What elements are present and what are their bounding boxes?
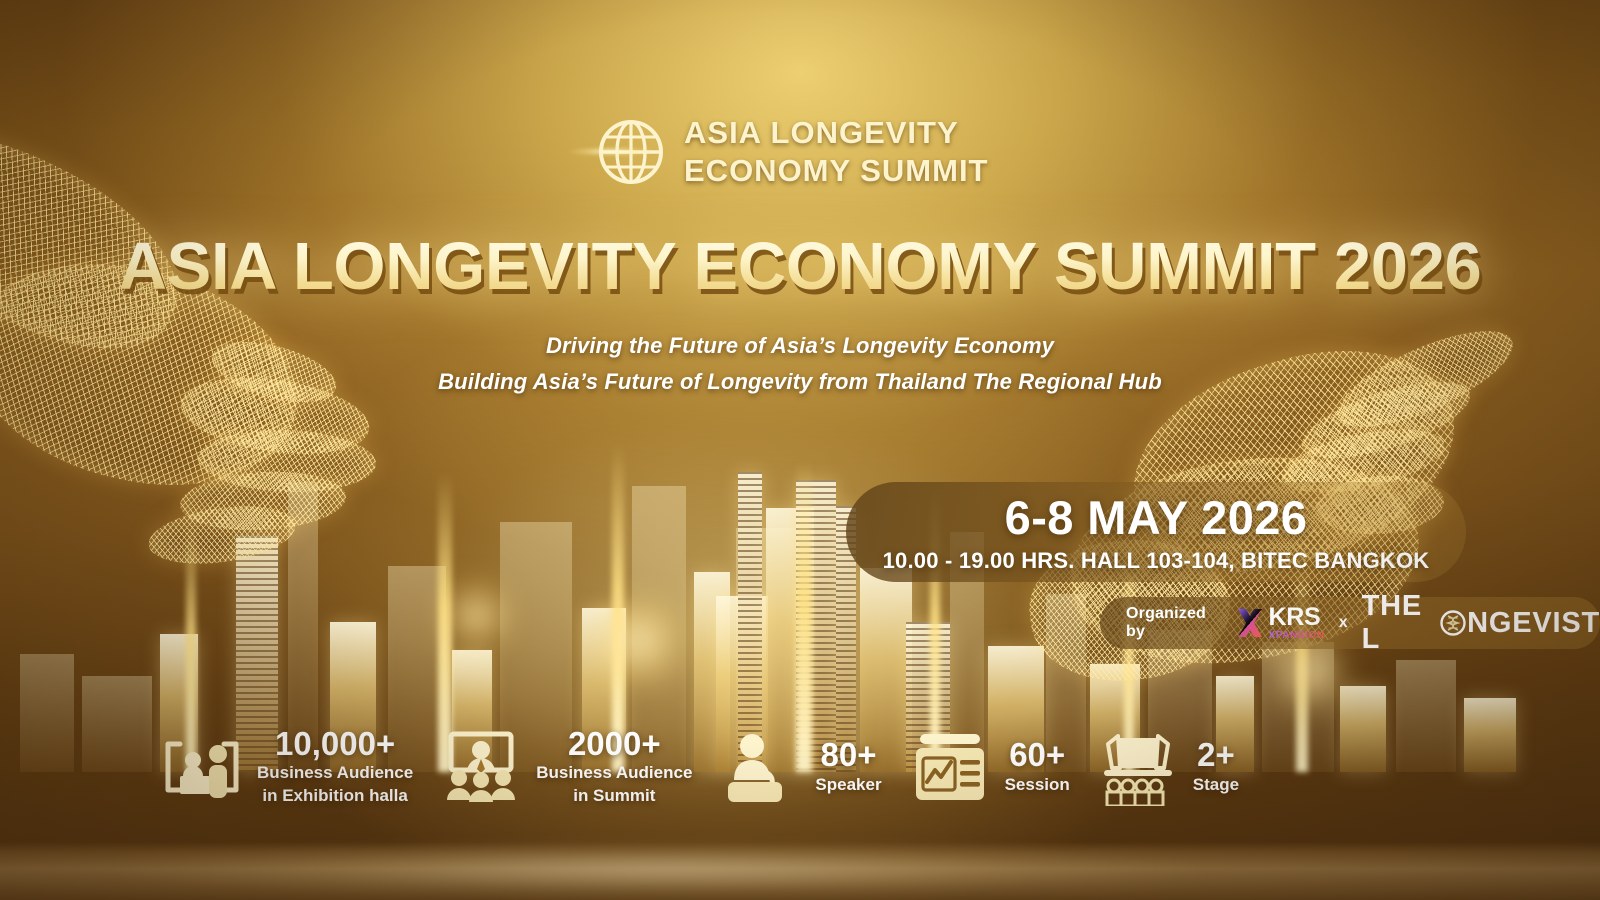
logo-line-2: ECONOMY SUMMIT: [684, 154, 989, 189]
stat-label-line2: in Exhibition halla: [262, 785, 407, 808]
event-date: 6-8 MAY 2026: [1005, 490, 1308, 545]
logo-line-1: ASIA LONGEVITY: [684, 116, 989, 151]
globe-icon: [590, 112, 664, 192]
krs-subname: XPANSION: [1268, 631, 1324, 641]
stat-label-line1: Business Audience: [536, 762, 692, 785]
event-date-venue-panel: 6-8 MAY 2026 10.00 - 19.00 HRS. HALL 103…: [846, 482, 1466, 582]
stat-item: 60+ Session: [908, 728, 1070, 806]
organized-by-label: Organized by: [1126, 605, 1225, 641]
floor-glow: [120, 848, 1200, 892]
stat-label-line1: Speaker: [815, 774, 881, 797]
longevist-text-part1: THE L: [1362, 590, 1439, 656]
event-venue: 10.00 - 19.00 HRS. HALL 103-104, BITEC B…: [883, 548, 1430, 574]
stat-item: 2+ Stage: [1096, 728, 1239, 806]
stage-audience-icon: [1096, 728, 1180, 806]
dna-circle-icon: [1440, 610, 1466, 636]
stat-label-line1: Stage: [1193, 774, 1239, 797]
logo-flare: [568, 147, 654, 156]
stat-number: 2+: [1197, 737, 1235, 773]
page-title: ASIA LONGEVITY ECONOMY SUMMIT 2026: [0, 228, 1600, 305]
stat-number: 60+: [1009, 737, 1065, 773]
summit-audience-icon: [439, 728, 523, 806]
exhibition-booth-icon: [160, 728, 244, 806]
stat-number: 80+: [821, 737, 877, 773]
tagline-group: Driving the Future of Asia’s Longevity E…: [0, 328, 1600, 399]
stat-number: 10,000+: [275, 726, 395, 762]
stat-item: 2000+ Business Audience in Summit: [439, 726, 692, 808]
stat-label-line2: in Summit: [573, 785, 655, 808]
the-longevist-logo: THE L NGEVIST: [1362, 590, 1600, 656]
stat-label-line1: Session: [1005, 774, 1070, 797]
krs-name: KRS: [1268, 605, 1324, 630]
stat-item: 10,000+ Business Audience in Exhibition …: [160, 726, 413, 808]
stat-item: 80+ Speaker: [718, 728, 881, 806]
tagline-secondary: Building Asia’s Future of Longevity from…: [0, 364, 1600, 400]
tagline-primary: Driving the Future of Asia’s Longevity E…: [0, 328, 1600, 364]
organizer-separator: x: [1339, 614, 1348, 632]
organizer-panel: Organized by KRS: [1100, 597, 1600, 649]
presentation-chart-icon: [908, 728, 992, 806]
stat-label-line1: Business Audience: [257, 762, 413, 785]
krs-xpansion-logo: KRS XPANSION: [1237, 605, 1324, 641]
longevist-text-part2: NGEVIST: [1467, 607, 1600, 640]
krs-x-mark-icon: [1237, 608, 1263, 638]
stats-bar: 10,000+ Business Audience in Exhibition …: [160, 726, 1239, 808]
brand-logo-lockup: ASIA LONGEVITY ECONOMY SUMMIT: [590, 112, 989, 192]
stat-number: 2000+: [568, 726, 661, 762]
podium-speaker-icon: [718, 728, 802, 806]
event-banner: ASIA LONGEVITY ECONOMY SUMMIT ASIA LONGE…: [0, 0, 1600, 900]
